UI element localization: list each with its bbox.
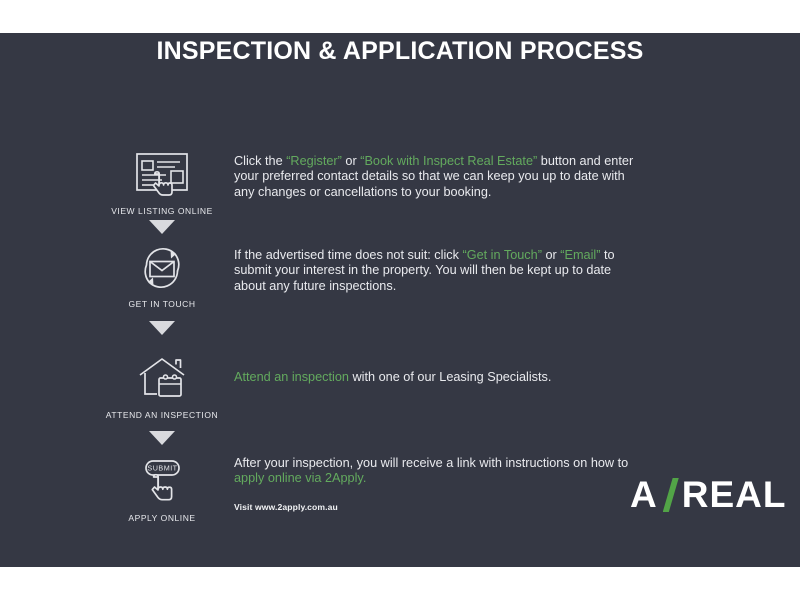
house-calendar-icon [98,352,226,406]
step-4-label: APPLY ONLINE [98,513,226,523]
submit-button-cursor-icon: SUBMIT [98,455,226,509]
text-fragment-highlight: “Register” [286,154,342,168]
step-2-label: GET IN TOUCH [98,299,226,309]
text-fragment: Click the [234,154,286,168]
text-fragment: or [542,248,560,262]
step-4-body: After your inspection, you will receive … [234,456,646,515]
step-3-icon-column: ATTEND AN INSPECTION [98,352,226,420]
logo-letter-a: A [630,474,658,516]
text-fragment-highlight: “Book with Inspect Real Estate” [360,154,537,168]
step-2-body: If the advertised time does not suit: cl… [234,248,646,294]
step-1-body: Click the “Register” or “Book with Inspe… [234,154,646,200]
text-fragment-highlight: “Email” [560,248,600,262]
logo-word-real: REAL [682,474,787,516]
text-fragment: If the advertised time does not suit: cl… [234,248,462,262]
logo-slash-icon [663,478,679,512]
step-3-body: Attend an inspection with one of our Lea… [234,370,646,385]
svg-text:SUBMIT: SUBMIT [147,464,177,473]
text-fragment-highlight: apply online via 2Apply. [234,471,366,485]
envelope-refresh-icon [98,241,226,295]
step-1-label: VIEW LISTING ONLINE [98,206,226,216]
text-fragment: or [342,154,360,168]
listing-page-cursor-icon [98,148,226,202]
step-4-icon-column: SUBMIT APPLY ONLINE [98,455,226,523]
step-1-icon-column: VIEW LISTING ONLINE [98,148,226,216]
visit-url-note: Visit www.2apply.com.au [234,500,646,515]
step-3-label: ATTEND AN INSPECTION [98,410,226,420]
text-fragment: After your inspection, you will receive … [234,456,628,470]
step-2-icon-column: GET IN TOUCH [98,241,226,309]
page-title: INSPECTION & APPLICATION PROCESS [0,37,800,66]
brand-logo: A REAL [630,474,786,516]
text-fragment: with one of our Leasing Specialists. [349,370,551,384]
text-fragment-highlight: “Get in Touch” [462,248,541,262]
slide-canvas: INSPECTION & APPLICATION PROCESS VIEW LI… [0,0,800,600]
text-fragment-highlight: Attend an inspection [234,370,349,384]
